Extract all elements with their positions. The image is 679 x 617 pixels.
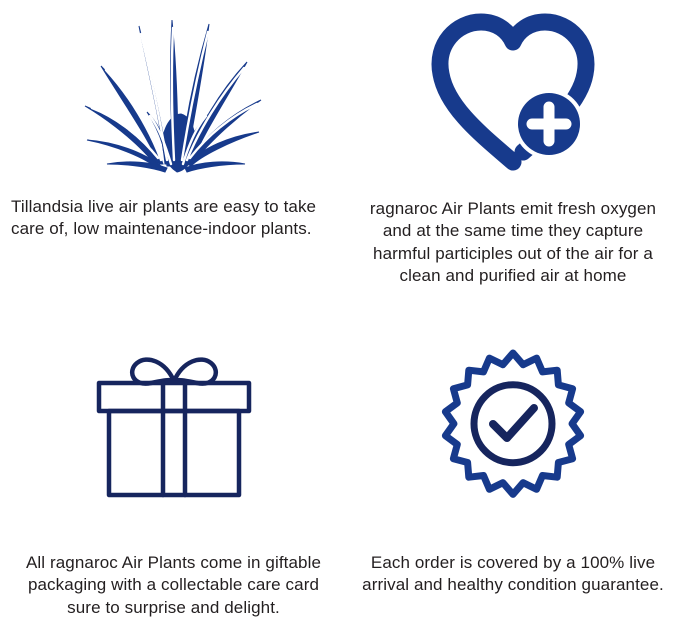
gift-box-icon (85, 346, 263, 506)
feature-caption: Tillandsia live air plants are easy to t… (7, 196, 340, 241)
heart-plus-icon (429, 8, 597, 178)
feature-caption: All ragnaroc Air Plants come in giftable… (11, 552, 337, 617)
feature-cell-air-plant-care: Tillandsia live air plants are easy to t… (0, 0, 347, 308)
air-plant-icon (81, 12, 267, 177)
feature-grid: Tillandsia live air plants are easy to t… (0, 0, 679, 617)
feature-cell-fresh-oxygen: ragnaroc Air Plants emit fresh oxygen an… (347, 0, 679, 308)
feature-caption: Each order is covered by a 100% live arr… (350, 552, 676, 597)
guarantee-badge-icon (433, 346, 593, 506)
feature-caption: ragnaroc Air Plants emit fresh oxygen an… (350, 198, 676, 288)
feature-cell-giftable-packaging: All ragnaroc Air Plants come in giftable… (0, 308, 347, 617)
feature-cell-live-arrival-guarantee: Each order is covered by a 100% live arr… (347, 308, 679, 617)
